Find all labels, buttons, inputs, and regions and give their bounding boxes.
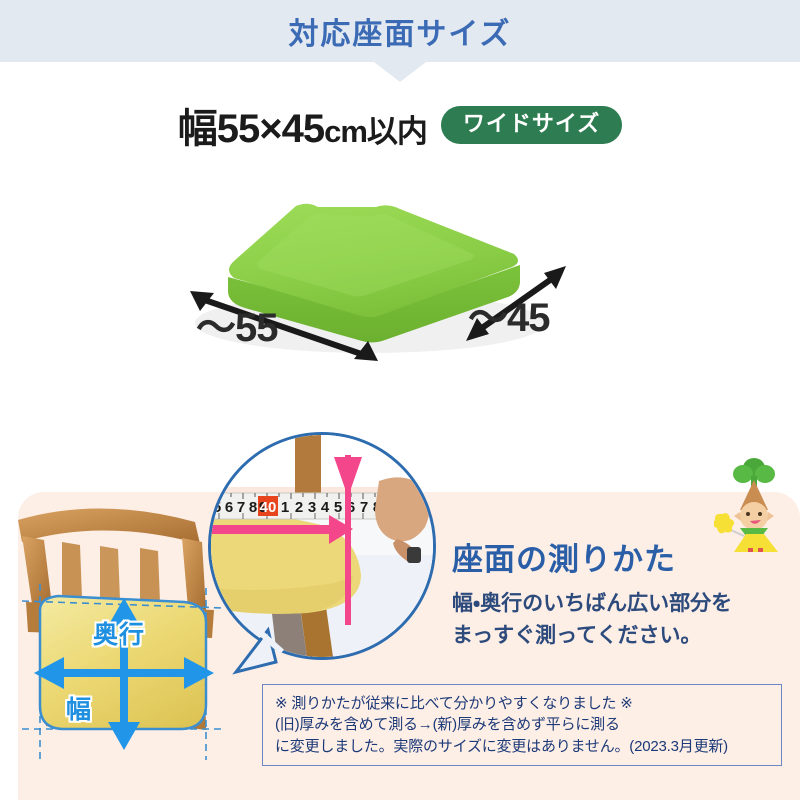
infographic-canvas: 対応座面サイズ 幅55×45cm以内 ワイドサイズ xyxy=(0,0,800,800)
seat-depth-label: 奥行 xyxy=(93,615,145,651)
svg-text:7: 7 xyxy=(360,499,368,516)
magnifier-circle: 5 6 7 8 9 40 1 2 3 4 5 6 7 8 9 xyxy=(208,432,436,660)
header-pointer-triangle xyxy=(374,62,426,82)
fairy-mascot-icon xyxy=(714,452,794,552)
svg-text:2: 2 xyxy=(295,499,303,516)
size-unit: cm以内 xyxy=(324,114,427,149)
tape-measure: 5 6 7 8 9 40 1 2 3 4 5 6 7 8 9 xyxy=(211,493,397,519)
svg-text:7: 7 xyxy=(237,499,245,516)
wide-size-badge: ワイドサイズ xyxy=(441,106,622,144)
how-to-body-line1: 幅・奥行のいちばん広い部分を xyxy=(452,588,782,620)
note-line-2: (旧)厚みを含めて測る→(新)厚みを含めず平らに測る xyxy=(275,714,771,735)
cushion-depth-label: 〜45 xyxy=(468,285,550,343)
cushion-illustration xyxy=(0,165,800,405)
size-text: 幅55×45cm以内 xyxy=(178,96,427,154)
svg-text:3: 3 xyxy=(308,499,316,516)
svg-text:40: 40 xyxy=(260,499,277,516)
size-summary-row: 幅55×45cm以内 ワイドサイズ xyxy=(0,98,800,152)
cushion-svg xyxy=(0,165,800,405)
note-line-3: に変更しました。実際のサイズに変更はありません。(2023.3月更新) xyxy=(275,736,771,757)
depth-arrowhead-bottom xyxy=(108,722,140,750)
svg-text:8: 8 xyxy=(249,499,257,516)
page-title: 対応座面サイズ xyxy=(0,0,800,62)
svg-text:5: 5 xyxy=(334,499,342,516)
how-to-measure-body: 幅・奥行のいちばん広い部分を まっすぐ測ってください。 xyxy=(452,588,782,651)
size-main: 幅55×45 xyxy=(178,107,324,151)
note-line-1: ※ 測りかたが従来に比べて分かりやすくなりました ※ xyxy=(275,693,771,714)
how-to-measure-title: 座面の測りかた xyxy=(452,534,676,579)
svg-text:4: 4 xyxy=(321,499,330,516)
tape-closeup-svg: 5 6 7 8 9 40 1 2 3 4 5 6 7 8 9 xyxy=(211,435,433,657)
how-to-body-line2: まっすぐ測ってください。 xyxy=(452,620,782,652)
update-note-box: ※ 測りかたが従来に比べて分かりやすくなりました ※ (旧)厚みを含めて測る→(… xyxy=(262,684,782,766)
svg-text:1: 1 xyxy=(281,499,289,516)
cushion-width-label: 〜55 xyxy=(196,295,278,353)
seat-width-label: 幅 xyxy=(66,690,92,726)
svg-text:6: 6 xyxy=(225,499,233,516)
